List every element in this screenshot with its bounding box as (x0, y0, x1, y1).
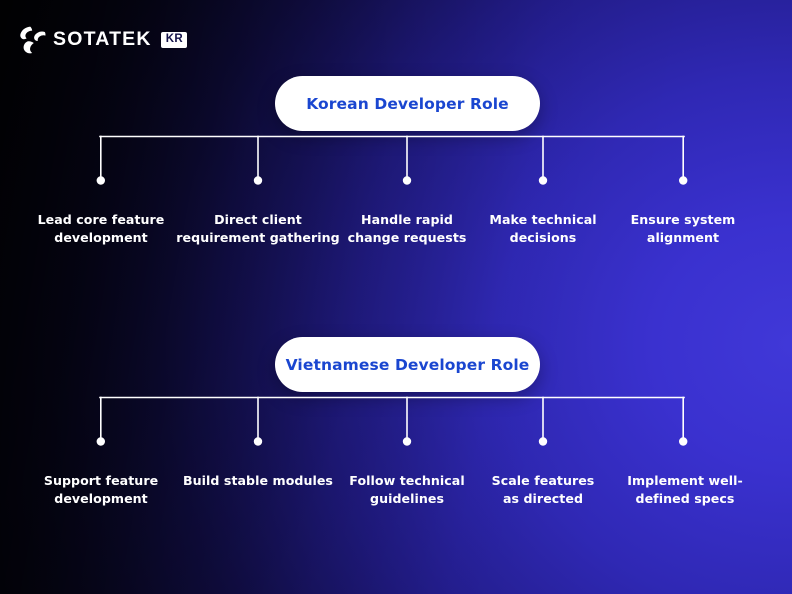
brand-region-badge: KR (161, 32, 187, 48)
node-label: Ensure system alignment (613, 211, 753, 247)
node-label: Support feature development (30, 472, 172, 508)
sotatek-swoosh-icon (20, 26, 46, 54)
node-label: Scale features as directed (473, 472, 613, 508)
node-label: Lead core feature development (30, 211, 172, 247)
node-label: Handle rapid change requests (333, 211, 481, 247)
role-card-vietnamese[interactable]: Vietnamese Developer Role (275, 337, 540, 392)
node-vietnamese-5[interactable]: Implement well- defined specs (613, 472, 757, 508)
brand-wordmark: SOTATEK (53, 30, 152, 50)
role-card-title: Vietnamese Developer Role (286, 356, 530, 374)
node-korean-1[interactable]: Lead core feature development (30, 211, 172, 247)
node-korean-3[interactable]: Handle rapid change requests (333, 211, 481, 247)
role-card-title: Korean Developer Role (306, 95, 509, 113)
slide-canvas: SOTATEK KR Korean Developer Role (0, 0, 792, 594)
node-label: Follow technical guidelines (333, 472, 481, 508)
node-korean-5[interactable]: Ensure system alignment (613, 211, 753, 247)
connector-bracket-korean (0, 131, 792, 206)
node-vietnamese-2[interactable]: Build stable modules (172, 472, 344, 490)
node-vietnamese-1[interactable]: Support feature development (30, 472, 172, 508)
node-label: Direct client requirement gathering (172, 211, 344, 247)
node-label: Build stable modules (172, 472, 344, 490)
node-korean-2[interactable]: Direct client requirement gathering (172, 211, 344, 247)
brand-logo: SOTATEK KR (20, 26, 187, 54)
connector-bracket-vietnamese (0, 392, 792, 467)
role-card-korean[interactable]: Korean Developer Role (275, 76, 540, 131)
node-label: Implement well- defined specs (613, 472, 757, 508)
node-label: Make technical decisions (473, 211, 613, 247)
node-vietnamese-3[interactable]: Follow technical guidelines (333, 472, 481, 508)
node-vietnamese-4[interactable]: Scale features as directed (473, 472, 613, 508)
node-korean-4[interactable]: Make technical decisions (473, 211, 613, 247)
